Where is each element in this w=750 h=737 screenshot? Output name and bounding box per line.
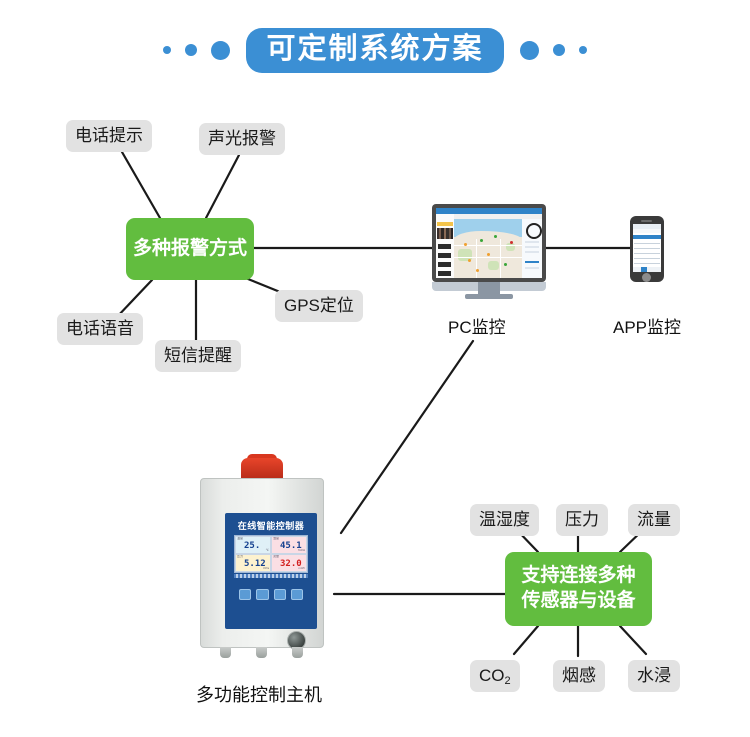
map-marker <box>476 269 479 272</box>
lcd-value: 25. <box>244 542 260 551</box>
map-marker <box>487 253 490 256</box>
sensors-line-1: 支持连接多种 <box>521 564 635 589</box>
label-temp-humidity: 温湿度 <box>470 504 539 536</box>
controller-key[interactable] <box>239 589 251 600</box>
controller-lcd-display: 温度 25. ℃ 湿度 45.1 %RH 压力 5.12 KPa <box>234 535 308 573</box>
app-list-row <box>634 263 660 264</box>
controller-key[interactable] <box>274 589 286 600</box>
lcd-tag: 流量 <box>273 555 279 558</box>
alarm-methods-box: 多种报警方式 <box>126 218 254 280</box>
caption-pc-monitor: PC监控 <box>448 313 506 338</box>
panel-row <box>525 267 539 269</box>
connector-lines <box>0 0 750 737</box>
app-phone <box>630 216 664 282</box>
cable-gland <box>256 647 267 658</box>
app-selected-row <box>633 235 661 239</box>
label-smoke: 烟感 <box>553 660 605 692</box>
lcd-cell-temperature: 温度 25. ℃ <box>235 536 271 554</box>
panel-row <box>525 251 539 253</box>
supported-sensors-label: 支持连接多种 传感器与设备 <box>521 564 635 613</box>
panel-row <box>525 241 539 243</box>
map-marker <box>464 243 467 246</box>
pc-monitor <box>432 204 546 282</box>
caption-controller: 多功能控制主机 <box>196 681 322 707</box>
app-list-row <box>634 253 660 254</box>
line-to-co2 <box>514 626 538 654</box>
screen-sidebar <box>436 214 454 278</box>
lcd-cell-flow: 流量 32.0 m3/h <box>271 554 307 572</box>
label-water-leak: 水浸 <box>628 660 680 692</box>
sidebar-button <box>438 244 451 249</box>
app-list-row <box>634 248 660 249</box>
phone-home-button <box>642 273 651 282</box>
label-gps-location: GPS定位 <box>275 290 363 322</box>
app-subheader <box>633 229 661 233</box>
lcd-status-strip <box>234 574 308 578</box>
map-road <box>500 239 501 278</box>
label-co2: CO2 <box>470 660 520 692</box>
lcd-cell-pressure: 压力 5.12 KPa <box>235 554 271 572</box>
line-to-water-leak <box>620 626 646 654</box>
label-phone-alert: 电话提示 <box>66 120 152 152</box>
controller-faceplate: 在线智能控制器 温度 25. ℃ 湿度 45.1 %RH 压力 5.12 <box>225 513 317 629</box>
map-marker <box>510 241 513 244</box>
alarm-beacon-icon <box>241 458 283 480</box>
map-marker <box>468 259 471 262</box>
diagram-canvas: 可定制系统方案 <box>0 0 750 737</box>
label-voice-call: 电话语音 <box>57 313 143 345</box>
controller-enclosure: 在线智能控制器 温度 25. ℃ 湿度 45.1 %RH 压力 5.12 <box>200 478 324 648</box>
lcd-tag: 温度 <box>237 537 243 540</box>
lcd-tag: 湿度 <box>273 537 279 540</box>
caption-app-monitor: APP监控 <box>613 313 681 338</box>
panel-row-active <box>525 261 539 263</box>
supported-sensors-box: 支持连接多种 传感器与设备 <box>505 552 652 626</box>
lcd-unit: ℃ <box>266 549 269 552</box>
cable-gland <box>292 647 303 658</box>
app-tabbar <box>633 267 661 272</box>
sidebar-button <box>438 262 451 267</box>
monitor-stand-base <box>465 294 513 299</box>
sidebar-button <box>438 271 451 276</box>
app-list-row <box>634 243 660 244</box>
label-flow: 流量 <box>628 504 680 536</box>
lcd-unit: %RH <box>298 549 305 552</box>
map-park <box>488 261 499 270</box>
monitor-stand-neck <box>478 282 500 294</box>
monitor-screen <box>436 208 542 278</box>
map-road <box>476 239 477 278</box>
camera-thumbnail <box>437 228 453 239</box>
screen-right-panel <box>522 219 542 278</box>
sidebar-header <box>437 222 453 226</box>
panel-row <box>525 246 539 248</box>
line-to-phone-alert <box>122 152 160 218</box>
label-co2-subscript: 2 <box>505 675 511 687</box>
alarm-methods-label: 多种报警方式 <box>133 237 247 262</box>
controller-face-title: 在线智能控制器 <box>225 519 317 532</box>
app-list-row <box>634 258 660 259</box>
map-marker <box>504 263 507 266</box>
label-pressure: 压力 <box>556 504 608 536</box>
lcd-tag: 压力 <box>237 555 243 558</box>
sidebar-button <box>438 253 451 258</box>
controller-key[interactable] <box>291 589 303 600</box>
line-controller-to-pc <box>341 341 473 533</box>
phone-speaker <box>641 220 652 222</box>
app-tab-active <box>641 267 647 272</box>
label-co2-text: CO <box>479 666 505 685</box>
map-marker <box>480 239 483 242</box>
line-to-sound-alarm <box>206 155 239 218</box>
phone-body <box>630 216 664 282</box>
map-road <box>454 257 522 258</box>
multifunction-controller: 在线智能控制器 温度 25. ℃ 湿度 45.1 %RH 压力 5.12 <box>192 458 332 670</box>
monitor-bezel <box>432 204 546 282</box>
map-marker <box>494 235 497 238</box>
lcd-unit: KPa <box>263 567 269 570</box>
lcd-unit: m3/h <box>298 567 305 570</box>
cable-gland <box>220 647 231 658</box>
sensors-line-2: 传感器与设备 <box>521 589 635 614</box>
label-sound-alarm: 声光报警 <box>199 123 285 155</box>
label-sms-reminder: 短信提醒 <box>155 340 241 372</box>
lcd-cell-humidity: 湿度 45.1 %RH <box>271 536 307 554</box>
map-view <box>454 219 522 278</box>
controller-key[interactable] <box>256 589 268 600</box>
controller-keypad[interactable] <box>239 589 303 600</box>
phone-screen <box>633 224 661 272</box>
gauge-icon <box>526 223 542 239</box>
